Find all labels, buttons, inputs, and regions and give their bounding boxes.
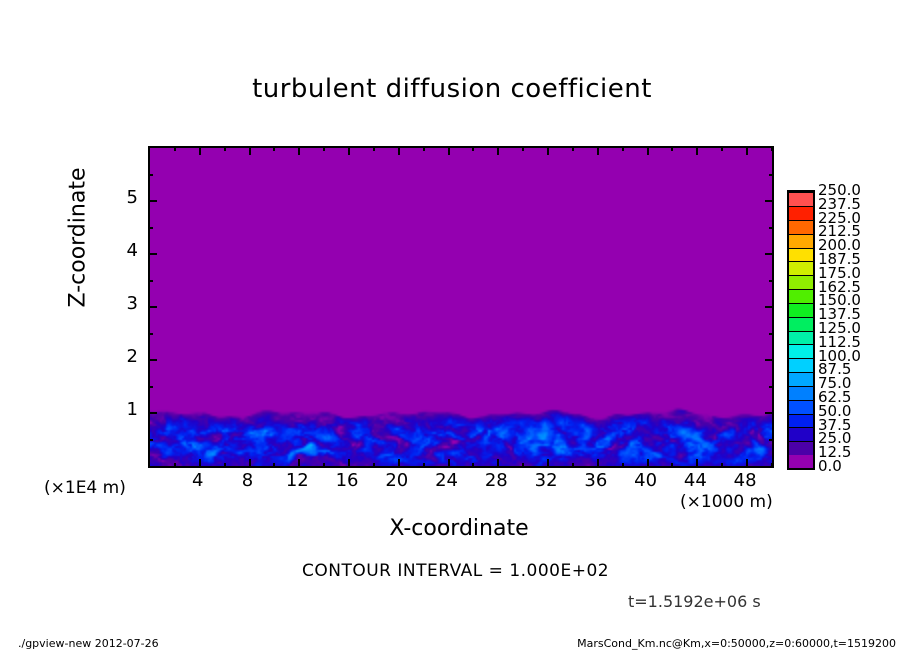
y-axis-tick: [765, 412, 774, 414]
x-axis-tick: [497, 459, 499, 468]
x-axis-tick: [348, 146, 350, 155]
colorbar-swatch: [789, 372, 813, 386]
y-axis-tick: [148, 306, 157, 308]
x-axis-tick: [249, 459, 251, 468]
y-axis-tick-label: 3: [108, 293, 138, 314]
y-axis-tick-label: 4: [108, 240, 138, 261]
colorbar-swatch: [789, 414, 813, 428]
x-axis-minor-tick: [472, 146, 474, 151]
colorbar-swatch: [789, 206, 813, 220]
colorbar-swatch: [789, 289, 813, 303]
y-axis-tick-label: 5: [108, 187, 138, 208]
colorbar-swatch: [789, 261, 813, 275]
x-axis-minor-tick: [622, 146, 624, 151]
x-axis-tick: [696, 459, 698, 468]
x-axis-minor-tick: [273, 463, 275, 468]
y-axis-minor-tick: [769, 439, 774, 441]
x-axis-minor-tick: [273, 146, 275, 151]
y-axis-minor-tick: [769, 227, 774, 229]
footer-command-label: ./gpview-new 2012-07-26: [18, 637, 159, 650]
page-title: turbulent diffusion coefficient: [0, 74, 904, 104]
y-axis-minor-tick: [769, 280, 774, 282]
x-axis-tick: [746, 146, 748, 155]
x-axis-minor-tick: [721, 463, 723, 468]
colorbar-swatch: [789, 303, 813, 317]
x-axis-minor-tick: [472, 463, 474, 468]
x-axis-tick: [696, 146, 698, 155]
x-axis-minor-tick: [522, 146, 524, 151]
plot-area: [148, 146, 774, 468]
x-axis-minor-tick: [572, 463, 574, 468]
x-axis-minor-tick: [423, 146, 425, 151]
x-axis-tick: [547, 146, 549, 155]
x-axis-minor-tick: [771, 146, 773, 151]
x-axis-minor-tick: [224, 463, 226, 468]
colorbar-swatch: [789, 331, 813, 345]
x-axis-minor-tick: [174, 146, 176, 151]
x-axis-title: X-coordinate: [148, 516, 770, 541]
colorbar-swatch: [789, 441, 813, 455]
y-axis-tick-label: 1: [108, 399, 138, 420]
y-axis-tick-label: 2: [108, 346, 138, 367]
x-axis-tick: [448, 146, 450, 155]
x-axis-minor-tick: [323, 146, 325, 151]
y-axis-tick: [765, 200, 774, 202]
x-axis-tick: [497, 146, 499, 155]
y-axis-tick: [765, 359, 774, 361]
footer-source-label: MarsCond_Km.nc@Km,x=0:50000,z=0:60000,t=…: [577, 637, 896, 650]
y-axis-title: Z-coordinate: [66, 128, 91, 348]
colorbar-swatch: [789, 455, 813, 468]
x-axis-tick: [647, 146, 649, 155]
x-axis-minor-tick: [373, 146, 375, 151]
x-axis-minor-tick: [323, 463, 325, 468]
x-axis-unit-label: (×1000 m): [680, 492, 773, 512]
y-axis-minor-tick: [148, 174, 153, 176]
y-axis-minor-tick: [769, 386, 774, 388]
y-axis-unit-label: (×1E4 m): [44, 478, 126, 498]
y-axis-tick: [765, 306, 774, 308]
x-axis-tick: [199, 459, 201, 468]
heatmap-field: [150, 148, 772, 466]
y-axis-minor-tick: [148, 439, 153, 441]
x-axis-minor-tick: [373, 463, 375, 468]
y-axis-minor-tick: [148, 227, 153, 229]
y-axis-tick: [148, 253, 157, 255]
x-axis-minor-tick: [622, 463, 624, 468]
x-axis-minor-tick: [423, 463, 425, 468]
colorbar-swatch: [789, 192, 813, 206]
x-axis-tick: [249, 146, 251, 155]
y-axis-minor-tick: [769, 333, 774, 335]
y-axis-tick: [765, 253, 774, 255]
colorbar-swatch: [789, 220, 813, 234]
x-axis-minor-tick: [721, 146, 723, 151]
x-axis-minor-tick: [522, 463, 524, 468]
colorbar-swatch: [789, 427, 813, 441]
colorbar-tick-label: 0.0: [818, 457, 842, 475]
timestamp-label: t=1.5192e+06 s: [628, 592, 761, 611]
colorbar-swatch: [789, 358, 813, 372]
colorbar-swatch: [789, 275, 813, 289]
x-axis-tick: [597, 146, 599, 155]
x-axis-minor-tick: [224, 146, 226, 151]
x-axis-tick: [348, 459, 350, 468]
contour-interval-label: CONTOUR INTERVAL = 1.000E+02: [302, 561, 609, 581]
x-axis-minor-tick: [771, 463, 773, 468]
colorbar-swatch: [789, 344, 813, 358]
x-axis-tick: [199, 146, 201, 155]
x-axis-minor-tick: [671, 146, 673, 151]
y-axis-tick: [148, 359, 157, 361]
x-axis-tick-label: 48: [715, 470, 775, 491]
x-axis-tick: [298, 459, 300, 468]
x-axis-minor-tick: [174, 463, 176, 468]
x-axis-tick: [597, 459, 599, 468]
x-axis-tick: [298, 146, 300, 155]
y-axis-minor-tick: [148, 333, 153, 335]
y-axis-tick: [148, 412, 157, 414]
x-axis-minor-tick: [572, 146, 574, 151]
x-axis-tick: [547, 459, 549, 468]
x-axis-tick: [398, 459, 400, 468]
x-axis-tick: [398, 146, 400, 155]
colorbar-swatch: [789, 248, 813, 262]
y-axis-minor-tick: [148, 280, 153, 282]
colorbar-swatch: [789, 400, 813, 414]
y-axis-minor-tick: [769, 174, 774, 176]
x-axis-minor-tick: [671, 463, 673, 468]
x-axis-tick: [647, 459, 649, 468]
colorbar-swatch: [789, 386, 813, 400]
x-axis-tick: [448, 459, 450, 468]
x-axis-tick: [746, 459, 748, 468]
colorbar-swatch: [789, 234, 813, 248]
y-axis-tick: [148, 200, 157, 202]
y-axis-minor-tick: [148, 386, 153, 388]
colorbar-swatch: [789, 317, 813, 331]
colorbar: [787, 190, 815, 470]
